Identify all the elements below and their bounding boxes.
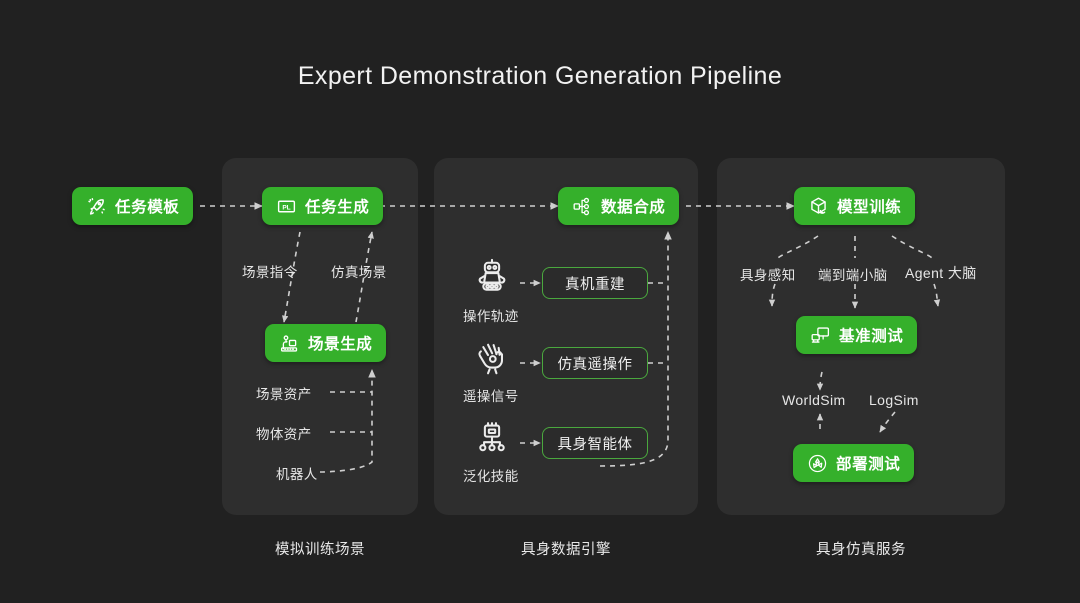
node-benchmark-test[interactable]: 基准测试 <box>796 316 917 354</box>
node-task-generation[interactable]: PL 任务生成 <box>262 187 383 225</box>
node-scene-generation[interactable]: 场景生成 <box>265 324 386 362</box>
node-model-training[interactable]: 模型训练 <box>794 187 915 225</box>
node-scene-generation-label: 场景生成 <box>308 332 372 354</box>
page-title: Expert Demonstration Generation Pipeline <box>0 62 1080 91</box>
node-deployment-test[interactable]: 部署测试 <box>793 444 914 482</box>
edge-label-simulated-scene: 仿真场景 <box>331 261 387 281</box>
source-label-teleop-signal: 遥操信号 <box>463 385 519 405</box>
source-label-operation-trajectory: 操作轨迹 <box>463 305 519 325</box>
input-label-scene-asset: 场景资产 <box>256 383 312 403</box>
node-simulated-teleoperation[interactable]: 仿真遥操作 <box>542 347 648 379</box>
recycle-circle-icon <box>807 453 828 474</box>
edge-label-embodied-perception: 具身感知 <box>740 264 796 284</box>
node-benchmark-test-label: 基准测试 <box>839 324 903 346</box>
svg-text:PL: PL <box>282 204 290 211</box>
network-chip-icon <box>473 420 511 458</box>
caption-simulation-training-scene: 模拟训练场景 <box>222 538 418 559</box>
edge-label-end-to-end-cerebellum: 端到端小脑 <box>818 264 888 284</box>
source-label-generalization-skill: 泛化技能 <box>463 465 519 485</box>
cube-refresh-icon <box>808 196 829 217</box>
node-task-generation-label: 任务生成 <box>305 195 369 217</box>
node-task-template-label: 任务模板 <box>115 195 179 217</box>
node-real-machine-reconstruction-label: 真机重建 <box>565 273 625 294</box>
node-model-training-label: 模型训练 <box>837 195 901 217</box>
data-flow-icon <box>572 196 593 217</box>
node-embodied-agent-label: 具身智能体 <box>558 433 633 454</box>
rocket-icon <box>86 196 107 217</box>
edge-label-logsim: LogSim <box>869 392 919 408</box>
edge-label-worldsim: WorldSim <box>782 392 846 408</box>
node-data-synthesis[interactable]: 数据合成 <box>558 187 679 225</box>
node-simulated-teleoperation-label: 仿真遥操作 <box>558 353 633 374</box>
node-embodied-agent[interactable]: 具身智能体 <box>542 427 648 459</box>
robot-arm-icon <box>279 333 300 354</box>
edge-label-agent-brain: Agent 大脑 <box>905 263 977 283</box>
caption-embodied-simulation-service: 具身仿真服务 <box>717 538 1005 559</box>
input-label-object-asset: 物体资产 <box>256 423 312 443</box>
edge-label-scene-instruction: 场景指令 <box>242 261 298 281</box>
glove-icon <box>473 340 511 378</box>
robot-icon <box>473 258 511 296</box>
frame-pl-icon: PL <box>276 196 297 217</box>
node-data-synthesis-label: 数据合成 <box>601 195 665 217</box>
node-task-template[interactable]: 任务模板 <box>72 187 193 225</box>
node-real-machine-reconstruction[interactable]: 真机重建 <box>542 267 648 299</box>
monitor-test-icon <box>810 325 831 346</box>
input-label-robot: 机器人 <box>276 463 318 483</box>
node-deployment-test-label: 部署测试 <box>836 452 900 474</box>
diagram-canvas: Expert Demonstration Generation Pipeline <box>0 0 1080 603</box>
caption-embodied-data-engine: 具身数据引擎 <box>434 538 698 559</box>
